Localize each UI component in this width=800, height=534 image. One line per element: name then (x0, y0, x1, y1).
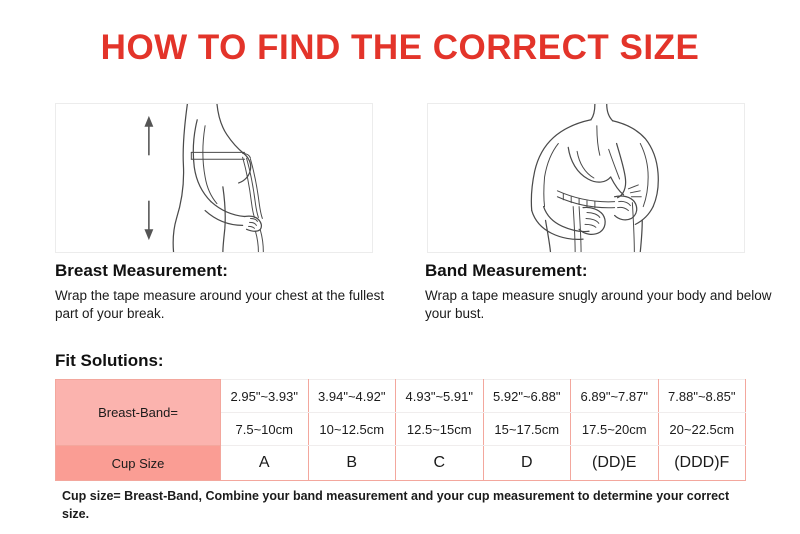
breast-measurement-body: Wrap the tape measure around your chest … (55, 287, 405, 323)
row-label-breast-band: Breast-Band= (56, 380, 221, 446)
table-cell-cm-5: 20~22.5cm (658, 413, 746, 446)
table-cell-cm-0: 7.5~10cm (221, 413, 309, 446)
band-measurement-caption: Band Measurement: Wrap a tape measure sn… (425, 262, 785, 322)
table-cell-cm-3: 15~17.5cm (483, 413, 571, 446)
table-cell-inch-3: 5.92"~6.88" (483, 380, 571, 413)
footer-note: Cup size= Breast-Band, Combine your band… (62, 487, 752, 523)
size-chart-table: Breast-Band= 2.95"~3.93" 3.94"~4.92" 4.9… (55, 379, 746, 481)
table-cell-inch-1: 3.94"~4.92" (308, 380, 396, 413)
table-row-cup-size: Cup Size A B C D (DD)E (DDD)F (56, 446, 746, 481)
illustration-panels (55, 103, 745, 253)
table-cell-cup-3: D (483, 446, 571, 481)
breast-measurement-illustration-panel (55, 103, 373, 253)
fit-solutions-heading: Fit Solutions: (55, 352, 164, 369)
table-cell-inch-0: 2.95"~3.93" (221, 380, 309, 413)
table-row-breast-band-inches: Breast-Band= 2.95"~3.93" 3.94"~4.92" 4.9… (56, 380, 746, 413)
caption-blocks: Breast Measurement: Wrap the tape measur… (55, 262, 755, 332)
table-cell-cm-1: 10~12.5cm (308, 413, 396, 446)
table-cell-inch-4: 6.89"~7.87" (571, 380, 659, 413)
woman-side-profile-bust-measure-illustration (56, 104, 372, 252)
page-title: HOW TO FIND THE CORRECT SIZE (0, 30, 800, 65)
up-arrow-icon (144, 116, 153, 155)
row-label-cup-size: Cup Size (56, 446, 221, 481)
table-cell-cup-0: A (221, 446, 309, 481)
band-measurement-body: Wrap a tape measure snugly around your b… (425, 287, 785, 323)
band-measurement-illustration-panel (427, 103, 745, 253)
breast-measurement-heading: Breast Measurement: (55, 262, 405, 281)
table-cell-inch-2: 4.93"~5.91" (396, 380, 484, 413)
table-cell-cm-2: 12.5~15cm (396, 413, 484, 446)
table-cell-cup-2: C (396, 446, 484, 481)
table-cell-inch-5: 7.88"~8.85" (658, 380, 746, 413)
table-cell-cup-1: B (308, 446, 396, 481)
breast-measurement-caption: Breast Measurement: Wrap the tape measur… (55, 262, 405, 322)
table-cell-cm-4: 17.5~20cm (571, 413, 659, 446)
table-cell-cup-4: (DD)E (571, 446, 659, 481)
woman-front-underbust-band-measure-illustration (428, 104, 744, 252)
down-arrow-icon (144, 201, 153, 240)
band-measurement-heading: Band Measurement: (425, 262, 785, 281)
table-cell-cup-5: (DDD)F (658, 446, 746, 481)
